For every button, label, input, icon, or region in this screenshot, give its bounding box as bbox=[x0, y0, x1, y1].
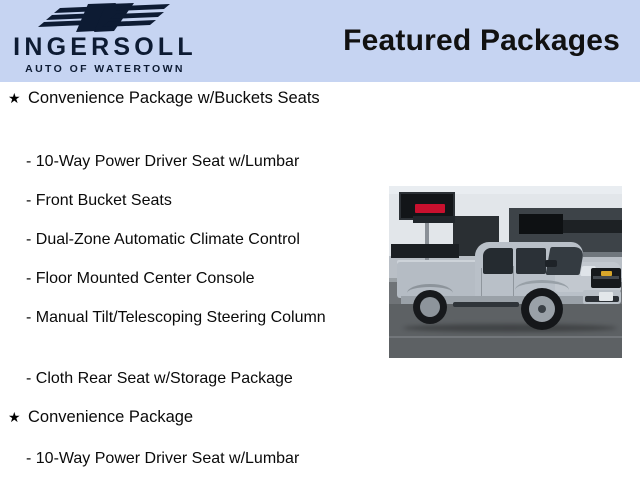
package-heading: ★ Convenience Package w/Buckets Seats bbox=[8, 88, 380, 109]
package-heading: ★ Convenience Package bbox=[8, 407, 380, 428]
photo-building-gmc-sign bbox=[519, 214, 563, 234]
packages-list: ★ Convenience Package w/Buckets Seats - … bbox=[0, 82, 380, 480]
truck-license-plate bbox=[599, 292, 613, 301]
truck-door-seam bbox=[481, 268, 482, 296]
feature-item: - 10-Way Power Driver Seat w/Lumbar bbox=[26, 448, 376, 469]
photo-pylon-sign bbox=[399, 192, 455, 220]
truck-shadow bbox=[403, 324, 617, 332]
winged-ia-monogram-icon bbox=[30, 2, 180, 34]
truck-rear-rim bbox=[420, 297, 440, 317]
package-title: Convenience Package bbox=[28, 407, 193, 428]
truck-running-board bbox=[453, 302, 519, 307]
truck-front-hub bbox=[538, 305, 546, 313]
truck-rear-window bbox=[483, 248, 513, 274]
feature-item: - 10-Way Power Driver Seat w/Lumbar bbox=[26, 151, 376, 172]
page-header: INGERSOLL AUTO OF WATERTOWN Featured Pac… bbox=[0, 0, 640, 82]
feature-item: - Dual-Zone Automatic Climate Control bbox=[26, 229, 376, 250]
page-title: Featured Packages bbox=[343, 24, 620, 58]
dealer-name: INGERSOLL bbox=[13, 35, 197, 60]
feature-item: - Manual Tilt/Telescoping Steering Colum… bbox=[26, 307, 326, 328]
truck-illustration bbox=[395, 236, 619, 340]
truck-grille-bar bbox=[593, 276, 619, 279]
feature-item: - Front Bucket Seats bbox=[26, 190, 376, 211]
gmc-logo-icon bbox=[415, 204, 445, 213]
truck-door-seam bbox=[513, 266, 514, 296]
package-title: Convenience Package w/Buckets Seats bbox=[28, 88, 320, 109]
dealer-subtitle: AUTO OF WATERTOWN bbox=[25, 64, 185, 75]
vehicle-photo bbox=[389, 186, 622, 358]
feature-item: - Floor Mounted Center Console bbox=[26, 268, 376, 289]
star-bullet-icon: ★ bbox=[8, 407, 28, 427]
star-bullet-icon: ★ bbox=[8, 88, 28, 108]
dealer-logo: INGERSOLL AUTO OF WATERTOWN bbox=[0, 2, 210, 82]
truck-front-window bbox=[516, 248, 546, 274]
truck-side-mirror bbox=[545, 260, 557, 267]
chevrolet-bowtie-icon bbox=[601, 271, 612, 276]
feature-item: - Cloth Rear Seat w/Storage Package bbox=[26, 368, 376, 389]
ingersoll-sign-text bbox=[413, 216, 455, 223]
